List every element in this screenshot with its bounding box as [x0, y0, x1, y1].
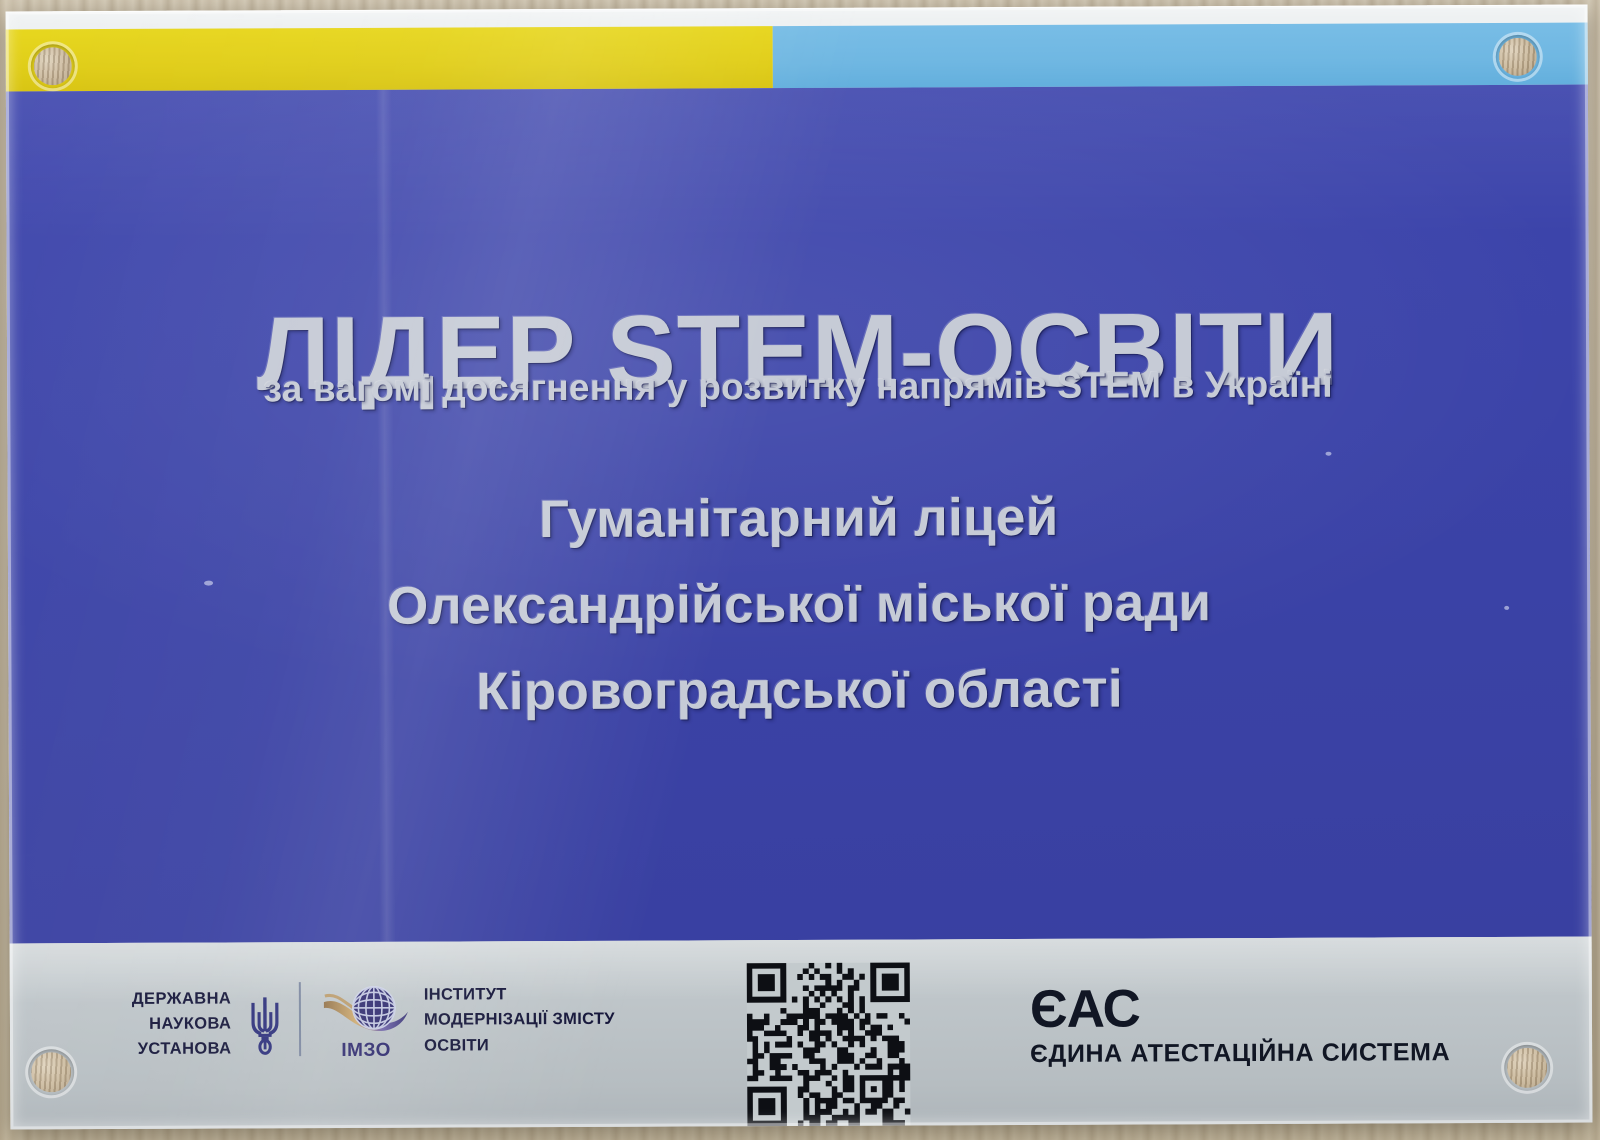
imzo-line-1: ІНСТИТУТ: [424, 982, 615, 1008]
mounting-screw-top-right: [1496, 35, 1540, 79]
ukraine-trident-emblem: [245, 993, 285, 1055]
imzo-globe-logo: ІМЗО: [322, 982, 410, 1060]
panel-top-glare: [6, 85, 1589, 242]
mounting-screw-bottom-left: [28, 1049, 74, 1095]
flag-stripe: [6, 23, 1588, 92]
screw-cap: [34, 47, 72, 85]
flag-blue-stripe: [773, 23, 1588, 89]
qr-code[interactable]: [747, 963, 911, 1127]
recipient-block: Гуманітарний ліцей Олександрійської місь…: [8, 473, 1591, 737]
state-institution-logo: ДЕРЖАВНА НАУКОВА УСТАНОВА: [132, 986, 286, 1062]
screw-cap: [1507, 1048, 1547, 1088]
imzo-label: ІНСТИТУТ МОДЕРНІЗАЦІЇ ЗМІСТУ ОСВІТИ: [424, 982, 615, 1058]
eac-abbreviation: ЄАС: [1030, 983, 1450, 1035]
imzo-line-3: ОСВІТИ: [424, 1032, 615, 1058]
state-institution-label: ДЕРЖАВНА НАУКОВА УСТАНОВА: [132, 986, 232, 1062]
award-plaque: ЛІДЕР STEM-ОСВІТИ за вагомі досягнення у…: [6, 5, 1593, 1130]
imzo-line-2: МОДЕРНІЗАЦІЇ ЗМІСТУ: [424, 1007, 615, 1033]
state-institution-line-2: НАУКОВА: [132, 1012, 231, 1038]
mounting-screw-top-left: [31, 44, 75, 88]
flag-yellow-stripe: [6, 26, 774, 91]
screw-cap: [31, 1052, 71, 1092]
imzo-abbreviation: ІМЗО: [322, 1040, 410, 1062]
state-institution-line-3: УСТАНОВА: [132, 1037, 231, 1063]
award-subtitle: за вагомі досягнення у розвитку напрямів…: [7, 363, 1589, 412]
screw-cap: [1499, 38, 1537, 76]
surface-speck: [1326, 452, 1332, 456]
recipient-line-2: Олександрійської міської ради: [8, 558, 1590, 651]
state-institution-line-1: ДЕРЖАВНА: [132, 986, 231, 1012]
eac-logo-block: ЄАС ЄДИНА АТЕСТАЦІЙНА СИСТЕМА: [1030, 983, 1450, 1069]
mounting-screw-bottom-right: [1504, 1045, 1550, 1091]
logo-divider: [299, 982, 301, 1056]
imzo-logo-block: ІМЗО ІНСТИТУТ МОДЕРНІЗАЦІЇ ЗМІСТУ ОСВІТИ: [322, 981, 615, 1060]
recipient-line-3: Кіровоградської області: [8, 644, 1590, 737]
eac-full-name: ЄДИНА АТЕСТАЦІЙНА СИСТЕМА: [1030, 1039, 1450, 1070]
recipient-line-1: Гуманітарний ліцей: [8, 473, 1590, 566]
